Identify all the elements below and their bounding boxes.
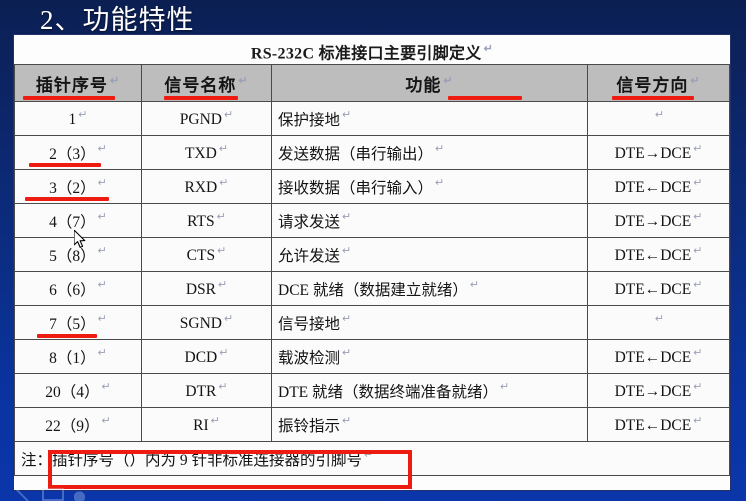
cell-function-text: 接收数据（串行输入） [278, 180, 433, 197]
pilcrow-icon: ↵ [98, 313, 107, 325]
pilcrow-icon: ↵ [342, 211, 351, 223]
pilcrow-icon: ↵ [342, 245, 351, 257]
table-row: 22（9）↵ RI↵ 振铃指示↵ DTE←DCE↵ [15, 408, 730, 442]
cell-pin-number: 20（4）↵ [15, 374, 142, 408]
cell-function-text: 发送数据（串行输出） [278, 146, 433, 163]
red-underline-annotation [37, 334, 97, 338]
red-underline-annotation [25, 197, 109, 201]
cell-pin-number-text: 4（7） [49, 214, 96, 231]
cell-pin-number-text: 5（8） [49, 248, 96, 265]
cell-signal-direction-text: DTE←DCE [615, 179, 692, 196]
pilcrow-icon: ↵ [98, 143, 107, 155]
cell-signal-name: RTS↵ [142, 204, 272, 238]
cell-function: 保护接地↵ [272, 102, 588, 136]
cell-signal-name: RXD↵ [142, 170, 272, 204]
cell-pin-number: 6（6）↵ [15, 272, 142, 306]
cell-signal-name: TXD↵ [142, 136, 272, 170]
cell-signal-name-text: RI [193, 417, 209, 434]
pilcrow-icon: ↵ [217, 245, 226, 257]
pilcrow-icon: ↵ [211, 415, 220, 427]
pilcrow-icon: ↵ [98, 211, 107, 223]
pilcrow-icon: ↵ [693, 415, 702, 427]
table-body: 1↵ PGND↵ 保护接地↵ ↵ 2（3）↵ TXD↵ 发送数据（串行输出）↵ … [15, 102, 730, 476]
pilcrow-icon: ↵ [342, 415, 351, 427]
pilcrow-icon: ↵ [693, 177, 702, 189]
pilcrow-icon: ↵ [98, 347, 107, 359]
pilcrow-icon: ↵ [655, 313, 664, 325]
cell-signal-direction: DTE←DCE↵ [588, 408, 730, 442]
cell-function-text: DTE 就绪（数据终端准备就绪） [278, 384, 498, 401]
pilcrow-icon: ↵ [470, 279, 479, 291]
cell-signal-name-text: PGND [180, 111, 222, 128]
table-title-text: RS-232C 标准接口主要引脚定义 [251, 45, 482, 62]
pilcrow-icon: ↵ [435, 143, 444, 155]
table-row: 8（1）↵ DCD↵ 载波检测↵ DTE←DCE↵ [15, 340, 730, 374]
table-header-row: 插针序号↵ 信号名称↵ 功能↵ 信号方向↵ [15, 65, 730, 102]
cell-function-text: 请求发送 [278, 214, 340, 231]
red-underline-annotation [29, 163, 101, 167]
cell-function-text: 信号接地 [278, 316, 340, 333]
red-underline-annotation [448, 96, 522, 100]
cell-pin-number-text: 6（6） [49, 282, 96, 299]
cell-pin-number-text: 7（5） [49, 316, 96, 333]
cell-pin-number: 2（3）↵ [15, 136, 142, 170]
pilcrow-icon: ↵ [224, 313, 233, 325]
pilcrow-icon: ↵ [693, 143, 702, 155]
cell-function: 振铃指示↵ [272, 408, 588, 442]
cell-pin-number: 22（9）↵ [15, 408, 142, 442]
cell-signal-direction-text: DTE→DCE [615, 213, 692, 230]
cell-note-text: 注：插针序号（）内为 9 针非标准连接器的引脚号 [21, 452, 362, 469]
cell-function: 接收数据（串行输入）↵ [272, 170, 588, 204]
pilcrow-icon: ↵ [98, 177, 107, 189]
cell-signal-direction: DTE←DCE↵ [588, 238, 730, 272]
content-panel: RS-232C 标准接口主要引脚定义↵ 插针序号↵ 信号名称↵ 功能↵ [14, 35, 730, 490]
cell-signal-direction-text: DTE←DCE [615, 247, 692, 264]
cell-signal-name-text: RTS [187, 213, 215, 230]
slide-canvas: 2、功能特性 RS-232C 标准接口主要引脚定义↵ 插针序号↵ 信号名称↵ 功 [0, 0, 746, 501]
pilcrow-icon: ↵ [342, 109, 351, 121]
pilcrow-icon: ↵ [435, 177, 444, 189]
table-row: 5（8）↵ CTS↵ 允许发送↵ DTE←DCE↵ [15, 238, 730, 272]
pilcrow-icon: ↵ [342, 347, 351, 359]
cell-signal-name: RI↵ [142, 408, 272, 442]
cell-pin-number: 8（1）↵ [15, 340, 142, 374]
red-underline-annotation [164, 96, 238, 100]
arrow-icon[interactable] [74, 491, 92, 501]
pilcrow-icon: ↵ [484, 43, 494, 55]
cell-signal-direction: DTE←DCE↵ [588, 340, 730, 374]
pin-definition-table: 插针序号↵ 信号名称↵ 功能↵ 信号方向↵ [14, 64, 730, 476]
cell-function: 信号接地↵ [272, 306, 588, 340]
cell-signal-direction-text: DTE→DCE [615, 383, 692, 400]
table-note-row: 注：插针序号（）内为 9 针非标准连接器的引脚号↵ [15, 442, 730, 476]
pilcrow-icon: ↵ [693, 211, 702, 223]
cell-pin-number: 7（5）↵ [15, 306, 142, 340]
pilcrow-icon: ↵ [364, 449, 373, 461]
cell-function-text: 振铃指示 [278, 418, 340, 435]
table-header: 插针序号↵ 信号名称↵ 功能↵ 信号方向↵ [15, 65, 730, 102]
pilcrow-icon: ↵ [218, 279, 227, 291]
cell-signal-name-text: RXD [185, 179, 218, 196]
cell-pin-number: 3（2）↵ [15, 170, 142, 204]
cell-signal-name-text: DTR [185, 383, 216, 400]
column-header-signal-direction: 信号方向↵ [588, 65, 730, 102]
table-row: 7（5）↵ SGND↵ 信号接地↵ ↵ [15, 306, 730, 340]
cell-signal-name-text: DSR [186, 281, 216, 298]
pilcrow-icon: ↵ [102, 415, 111, 427]
column-header-function: 功能↵ [272, 65, 588, 102]
pilcrow-icon: ↵ [693, 279, 702, 291]
cell-signal-name-text: TXD [185, 145, 217, 162]
table-row: 1↵ PGND↵ 保护接地↵ ↵ [15, 102, 730, 136]
pilcrow-icon: ↵ [500, 381, 509, 393]
table-row: 6（6）↵ DSR↵ DCE 就绪（数据建立就绪）↵ DTE←DCE↵ [15, 272, 730, 306]
cell-signal-name-text: DCD [185, 349, 218, 366]
pilcrow-icon: ↵ [693, 347, 702, 359]
cell-signal-name: DTR↵ [142, 374, 272, 408]
pilcrow-icon: ↵ [690, 75, 700, 87]
column-header-signal-direction-label: 信号方向 [616, 76, 688, 95]
cell-pin-number-text: 1 [69, 111, 77, 128]
pilcrow-icon: ↵ [238, 75, 248, 87]
column-header-pin-number: 插针序号↵ [15, 65, 142, 102]
cell-function-text: 保护接地 [278, 112, 340, 129]
table-row: 20（4）↵ DTR↵ DTE 就绪（数据终端准备就绪）↵ DTE→DCE↵ [15, 374, 730, 408]
cell-function: 发送数据（串行输出）↵ [272, 136, 588, 170]
table-row: 3（2）↵ RXD↵ 接收数据（串行输入）↵ DTE←DCE↵ [15, 170, 730, 204]
cell-signal-direction-text: DTE→DCE [615, 145, 692, 162]
pilcrow-icon: ↵ [98, 245, 107, 257]
pilcrow-icon: ↵ [224, 109, 233, 121]
table-title: RS-232C 标准接口主要引脚定义↵ [14, 35, 730, 64]
cell-signal-direction-text: DTE←DCE [615, 417, 692, 434]
cell-function: 载波检测↵ [272, 340, 588, 374]
red-underline-annotation [612, 96, 694, 100]
cell-function: DCE 就绪（数据建立就绪）↵ [272, 272, 588, 306]
pen-icon[interactable] [14, 490, 30, 501]
cell-signal-direction: ↵ [588, 102, 730, 136]
page-title: 2、功能特性 [40, 0, 195, 37]
cell-signal-name: CTS↵ [142, 238, 272, 272]
cell-signal-name: DCD↵ [142, 340, 272, 374]
cell-signal-name-text: CTS [187, 247, 215, 264]
cell-pin-number-text: 20（4） [45, 384, 99, 401]
cell-function-text: 允许发送 [278, 248, 340, 265]
cell-pin-number-text: 3（2） [49, 180, 96, 197]
cell-signal-direction-text: DTE←DCE [615, 281, 692, 298]
pilcrow-icon: ↵ [655, 109, 664, 121]
cell-signal-direction-text: DTE←DCE [615, 349, 692, 366]
cell-signal-direction: DTE←DCE↵ [588, 272, 730, 306]
cell-pin-number-text: 2（3） [49, 146, 96, 163]
pilcrow-icon: ↵ [98, 279, 107, 291]
pilcrow-icon: ↵ [110, 75, 120, 87]
cell-signal-direction: DTE→DCE↵ [588, 204, 730, 238]
cell-pin-number-text: 8（1） [49, 350, 96, 367]
table-row: 4（7）↵ RTS↵ 请求发送↵ DTE→DCE↵ [15, 204, 730, 238]
pilcrow-icon: ↵ [217, 211, 226, 223]
slide-icon[interactable] [42, 488, 64, 501]
cell-pin-number-text: 22（9） [45, 418, 99, 435]
cell-function-text: DCE 就绪（数据建立就绪） [278, 282, 468, 299]
pilcrow-icon: ↵ [219, 143, 228, 155]
mouse-cursor [74, 230, 88, 250]
table-row: 2（3）↵ TXD↵ 发送数据（串行输出）↵ DTE→DCE↵ [15, 136, 730, 170]
cell-function-text: 载波检测 [278, 350, 340, 367]
cell-signal-direction: ↵ [588, 306, 730, 340]
cell-pin-number: 1↵ [15, 102, 142, 136]
cell-function: 请求发送↵ [272, 204, 588, 238]
cell-signal-direction: DTE←DCE↵ [588, 170, 730, 204]
pilcrow-icon: ↵ [693, 381, 702, 393]
pilcrow-icon: ↵ [219, 177, 228, 189]
cell-signal-name: DSR↵ [142, 272, 272, 306]
pilcrow-icon: ↵ [342, 313, 351, 325]
pilcrow-icon: ↵ [693, 245, 702, 257]
column-header-signal-name-label: 信号名称 [164, 76, 236, 95]
cell-signal-direction: DTE→DCE↵ [588, 374, 730, 408]
column-header-signal-name: 信号名称↵ [142, 65, 272, 102]
cell-function: 允许发送↵ [272, 238, 588, 272]
pilcrow-icon: ↵ [78, 109, 87, 121]
cell-signal-direction: DTE→DCE↵ [588, 136, 730, 170]
cell-signal-name: SGND↵ [142, 306, 272, 340]
red-underline-annotation [23, 96, 115, 100]
pilcrow-icon: ↵ [102, 381, 111, 393]
pilcrow-icon: ↵ [218, 381, 227, 393]
pilcrow-icon: ↵ [219, 347, 228, 359]
column-header-pin-number-label: 插针序号 [36, 76, 108, 95]
column-header-function-label: 功能 [405, 76, 441, 95]
cell-note: 注：插针序号（）内为 9 针非标准连接器的引脚号↵ [15, 442, 730, 476]
cell-signal-name: PGND↵ [142, 102, 272, 136]
cell-signal-name-text: SGND [180, 315, 222, 332]
presentation-toolbar [0, 489, 746, 501]
cell-function: DTE 就绪（数据终端准备就绪）↵ [272, 374, 588, 408]
pilcrow-icon: ↵ [443, 75, 453, 87]
